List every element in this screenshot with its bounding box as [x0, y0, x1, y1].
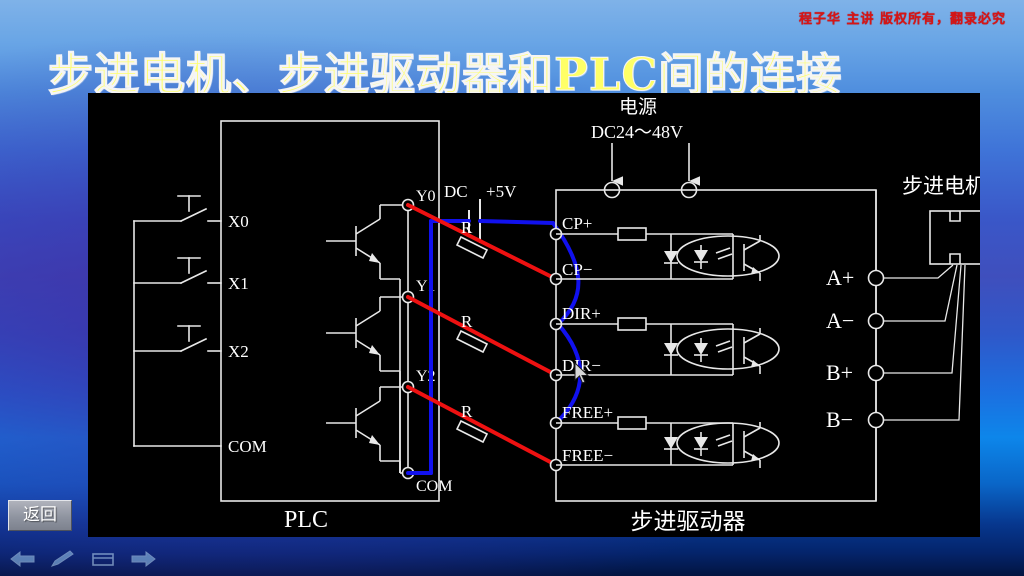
resistor-label-r3: R — [461, 402, 473, 421]
plc-terminal-y0-label: Y0 — [416, 188, 436, 205]
label-dir-plus: DIR+ — [562, 304, 601, 323]
terminal-b-minus[interactable] — [869, 413, 884, 428]
power-supply-labels: 电源 DC24～48V — [591, 96, 683, 142]
terminal-a-plus[interactable] — [869, 271, 884, 286]
pen-icon[interactable] — [48, 549, 78, 569]
dc-label: DC — [444, 182, 468, 201]
power-supply-leads — [612, 143, 689, 181]
label-b-plus: B+ — [826, 360, 853, 385]
resistor-label-r2: R — [461, 312, 473, 331]
label-cp-minus: CP− — [562, 260, 592, 279]
power-supply-title: 电源 — [619, 96, 657, 118]
presentation-toolbar — [0, 542, 1024, 576]
terminal-a-minus[interactable] — [869, 314, 884, 329]
plc-input-labels: X0 X1 X2 COM — [228, 212, 267, 456]
stepper-motor-body — [930, 211, 980, 264]
label-a-minus: A− — [826, 308, 854, 333]
plc-output-transistors — [326, 205, 408, 473]
common-wire-blue — [408, 221, 580, 473]
resistor-label-r1: R — [461, 218, 473, 237]
plc-terminal-com-in: COM — [228, 437, 267, 456]
terminal-b-plus[interactable] — [869, 366, 884, 381]
plc-terminal-x2: X2 — [228, 342, 249, 361]
label-dir-minus: DIR− — [562, 356, 601, 375]
diagram-canvas: X0 X1 X2 COM — [88, 93, 980, 537]
plc-caption: PLC — [284, 507, 328, 533]
label-a-plus: A+ — [826, 265, 854, 290]
forward-arrow-icon[interactable] — [128, 549, 158, 569]
back-arrow-icon[interactable] — [8, 549, 38, 569]
plc-terminal-x0: X0 — [228, 212, 249, 231]
copyright-notice: 程子华 主讲 版权所有，翻录必究 — [799, 8, 1006, 27]
plc-output-labels: Y0 Y1 Y2 COM — [416, 188, 452, 495]
wiring-diagram: X0 X1 X2 COM — [88, 93, 980, 537]
logic-supply-labels: DC +5V — [444, 182, 517, 201]
label-free-plus: FREE+ — [562, 403, 613, 422]
driver-caption: 步进驱动器 — [631, 509, 746, 535]
plc-input-network — [134, 196, 221, 446]
label-free-minus: FREE− — [562, 446, 613, 465]
slide-icon[interactable] — [88, 549, 118, 569]
label-b-minus: B− — [826, 407, 853, 432]
plc-terminal-x1: X1 — [228, 274, 249, 293]
driver-motor-labels: A+ A− B+ B− — [826, 265, 854, 432]
plc-terminal-com-out-label: COM — [416, 478, 452, 495]
return-button[interactable]: 返回 — [8, 500, 72, 531]
plus5v-label: +5V — [486, 182, 517, 201]
stepper-motor-label: 步进电机 — [902, 174, 980, 198]
label-cp-plus: CP+ — [562, 214, 592, 233]
presentation-slide: 程子华 主讲 版权所有，翻录必究 步进电机、步进驱动器和PLC间的连接 — [0, 0, 1024, 576]
power-supply-rating: DC24～48V — [591, 122, 683, 142]
motor-lead-wires — [884, 265, 965, 420]
